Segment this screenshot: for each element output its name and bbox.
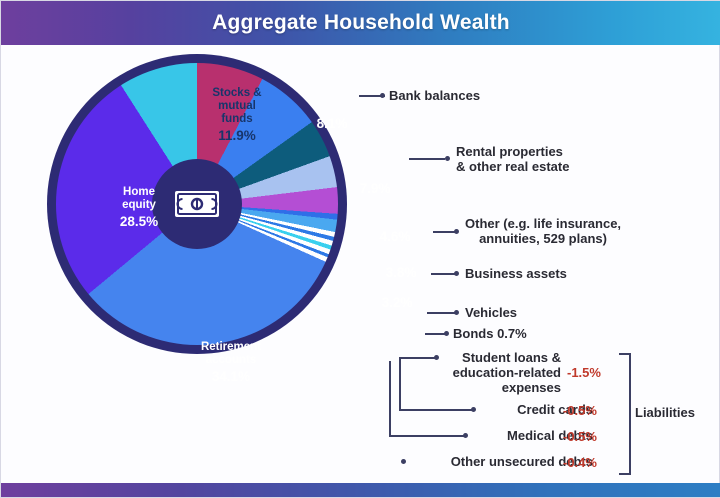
callout-vehicles: Vehicles: [465, 306, 517, 321]
callout-bonds-label: Bonds: [453, 326, 493, 341]
leader-dot-student: [434, 355, 439, 360]
callout-student-line3: expenses: [441, 381, 561, 396]
leader-line-business: [431, 273, 455, 275]
slice-other-pct: 4.6%: [369, 229, 421, 244]
callout-bonds: Bonds 0.7%: [453, 327, 527, 342]
liabilities-bracket: [619, 353, 631, 475]
leader-dot-bonds: [444, 331, 449, 336]
leader-dot-medical: [463, 433, 468, 438]
callout-rental-line1: Rental properties: [456, 145, 569, 160]
leader-line-credit: [399, 409, 473, 411]
leader-dot-bank: [380, 93, 385, 98]
infographic-root: Aggregate Household Wealth Stocks & mutu…: [0, 0, 720, 498]
callout-rental-line2: & other real estate: [456, 160, 569, 175]
slice-retirement-line2: accounts: [171, 354, 291, 367]
leader-line-bonds: [425, 333, 445, 335]
banknote-icon: [174, 190, 220, 218]
callout-business-assets: Business assets: [465, 267, 567, 282]
callout-other-line1: Other (e.g. life insurance,: [465, 217, 621, 232]
callout-bank-label: Bank balances: [389, 88, 480, 103]
callout-student-loans: Student loans & education-related expens…: [441, 351, 561, 396]
slice-retirement-pct: 34.1%: [171, 369, 291, 384]
leader-dot-business: [454, 271, 459, 276]
leader-dot-vehicles: [454, 310, 459, 315]
callout-unsecured-value: -0.4%: [563, 455, 597, 470]
callout-rental-properties: Rental properties & other real estate: [456, 145, 569, 175]
liabilities-label: Liabilities: [635, 405, 695, 420]
leader-dot-other: [454, 229, 459, 234]
pie-center-hole: [152, 159, 242, 249]
leader-elbow-credit-vertical: [399, 357, 401, 409]
leader-line-student: [399, 357, 435, 359]
leader-elbow-medical-vertical: [389, 361, 391, 435]
callout-vehicles-label: Vehicles: [465, 305, 517, 320]
leader-line-medical: [389, 435, 465, 437]
leader-dot-unsecured: [401, 459, 406, 464]
callout-credit-value: -0.5%: [563, 403, 597, 418]
slice-label-business: 3.8%: [375, 263, 427, 280]
callout-student-value: -1.5%: [567, 365, 601, 380]
slice-business-pct: 3.8%: [375, 265, 427, 280]
leader-dot-rental: [445, 156, 450, 161]
callout-student-line2: education-related: [441, 366, 561, 381]
callout-medical-value: -0.5%: [563, 429, 597, 444]
callout-other-insurance: Other (e.g. life insurance, annuities, 5…: [465, 217, 621, 247]
callout-business-label: Business assets: [465, 266, 567, 281]
leader-dot-credit: [471, 407, 476, 412]
leader-line-other: [433, 231, 455, 233]
leader-line-rental: [409, 158, 445, 160]
leader-line-vehicles: [427, 312, 455, 314]
slice-label-other: 4.6%: [369, 227, 421, 244]
callout-bonds-value: 0.7%: [497, 326, 527, 341]
pie-chart: [47, 54, 347, 354]
footer-bar: [1, 483, 720, 497]
callout-other-line2: annuities, 529 plans): [465, 232, 621, 247]
slice-vehicles-pct: 3.2%: [371, 295, 423, 310]
slice-label-rental: 7.9%: [349, 179, 401, 196]
page-title: Aggregate Household Wealth: [212, 11, 510, 35]
slice-label-vehicles: 3.2%: [371, 293, 423, 310]
slice-rental-pct: 7.9%: [349, 181, 401, 196]
header-bar: Aggregate Household Wealth: [1, 1, 720, 45]
callout-student-line1: Student loans &: [441, 351, 561, 366]
callout-bank-balances: Bank balances: [389, 89, 480, 104]
